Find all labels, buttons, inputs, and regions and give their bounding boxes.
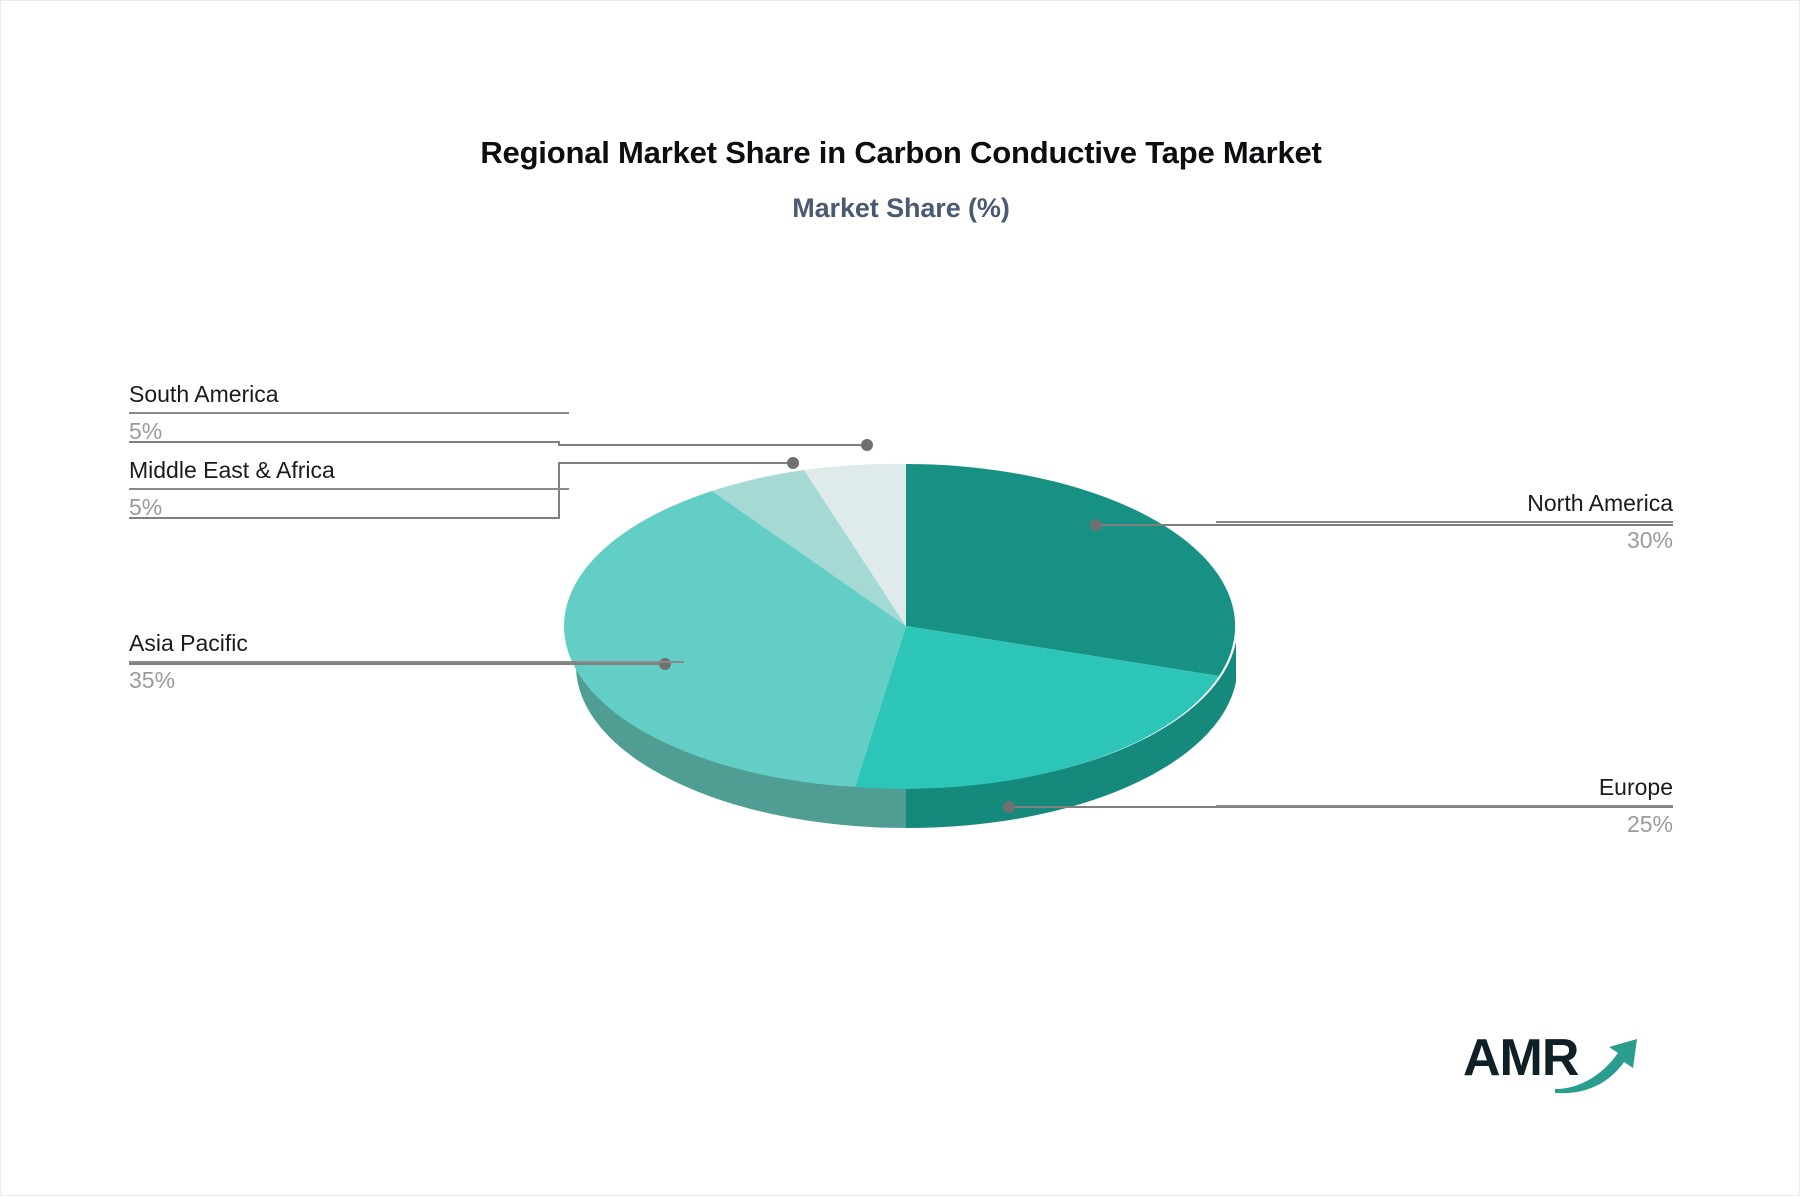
- callout-label-middle-east-africa: Middle East & Africa: [129, 455, 569, 485]
- callout-rule-europe: [1216, 805, 1673, 807]
- callout-rule-south-america: [129, 412, 569, 414]
- pie-top-faces: [564, 464, 1235, 789]
- callout-rule-middle-east-africa: [129, 488, 569, 490]
- callout-rule-asia-pacific: [129, 661, 684, 663]
- callout-label-europe: Europe: [1216, 772, 1673, 802]
- leader-dot-north-america: [1090, 519, 1102, 531]
- callout-north-america: North America 30%: [1216, 488, 1673, 555]
- callout-value-asia-pacific: 35%: [129, 665, 684, 695]
- callout-label-south-america: South America: [129, 379, 569, 409]
- leader-dot-middle-east-africa: [787, 457, 799, 469]
- pie-chart-svg: [1, 1, 1800, 1197]
- callout-value-europe: 25%: [1216, 809, 1673, 839]
- callout-label-north-america: North America: [1216, 488, 1673, 518]
- callout-label-asia-pacific: Asia Pacific: [129, 628, 684, 658]
- callout-value-north-america: 30%: [1216, 525, 1673, 555]
- chart-card: Regional Market Share in Carbon Conducti…: [0, 0, 1800, 1196]
- leader-dot-south-america: [861, 439, 873, 451]
- callout-south-america: South America 5%: [129, 379, 569, 446]
- amr-logo: AMR: [1463, 1025, 1648, 1097]
- pie-chart-stage: South America 5% Middle East & Africa 5%…: [1, 1, 1800, 1197]
- callout-europe: Europe 25%: [1216, 772, 1673, 839]
- callout-middle-east-africa: Middle East & Africa 5%: [129, 455, 569, 522]
- callout-rule-north-america: [1216, 521, 1673, 523]
- amr-logo-text: AMR: [1463, 1029, 1579, 1087]
- callout-value-middle-east-africa: 5%: [129, 492, 569, 522]
- leader-dot-europe: [1003, 801, 1015, 813]
- callout-value-south-america: 5%: [129, 416, 569, 446]
- callout-asia-pacific: Asia Pacific 35%: [129, 628, 684, 695]
